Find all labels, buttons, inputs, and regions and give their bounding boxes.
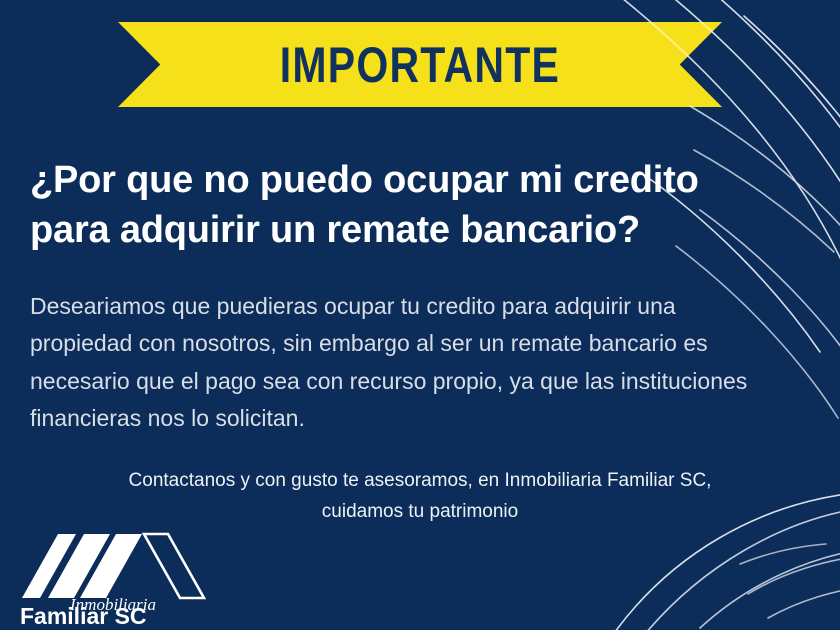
poster-canvas: IMPORTANTE ¿Por que no puedo ocupar mi c… bbox=[0, 0, 840, 630]
body-line-3: necesario que el pago sea con recurso pr… bbox=[30, 363, 812, 400]
company-logo: Inmobiliaria Familiar SC bbox=[18, 524, 218, 626]
page-title: ¿Por que no puedo ocupar mi credito para… bbox=[30, 155, 750, 255]
importante-banner: IMPORTANTE bbox=[118, 22, 722, 107]
logo-mark-icon bbox=[22, 534, 204, 598]
contact-line-1: Contactanos y con gusto te asesoramos, e… bbox=[60, 466, 780, 497]
headline-line-1: ¿Por que no puedo ocupar mi credito bbox=[30, 155, 750, 205]
banner-title: IMPORTANTE bbox=[280, 36, 560, 94]
logo-name-text: Familiar SC bbox=[20, 603, 147, 626]
body-line-2: propiedad con nosotros, sin embargo al s… bbox=[30, 325, 812, 362]
contact-message: Contactanos y con gusto te asesoramos, e… bbox=[60, 466, 780, 528]
contact-line-2: cuidamos tu patrimonio bbox=[60, 497, 780, 528]
body-paragraph: Deseariamos que puedieras ocupar tu cred… bbox=[30, 288, 812, 437]
body-line-4: financieras nos lo solicitan. bbox=[30, 400, 812, 437]
headline-line-2: para adquirir un remate bancario? bbox=[30, 205, 750, 255]
body-line-1: Deseariamos que puedieras ocupar tu cred… bbox=[30, 288, 812, 325]
